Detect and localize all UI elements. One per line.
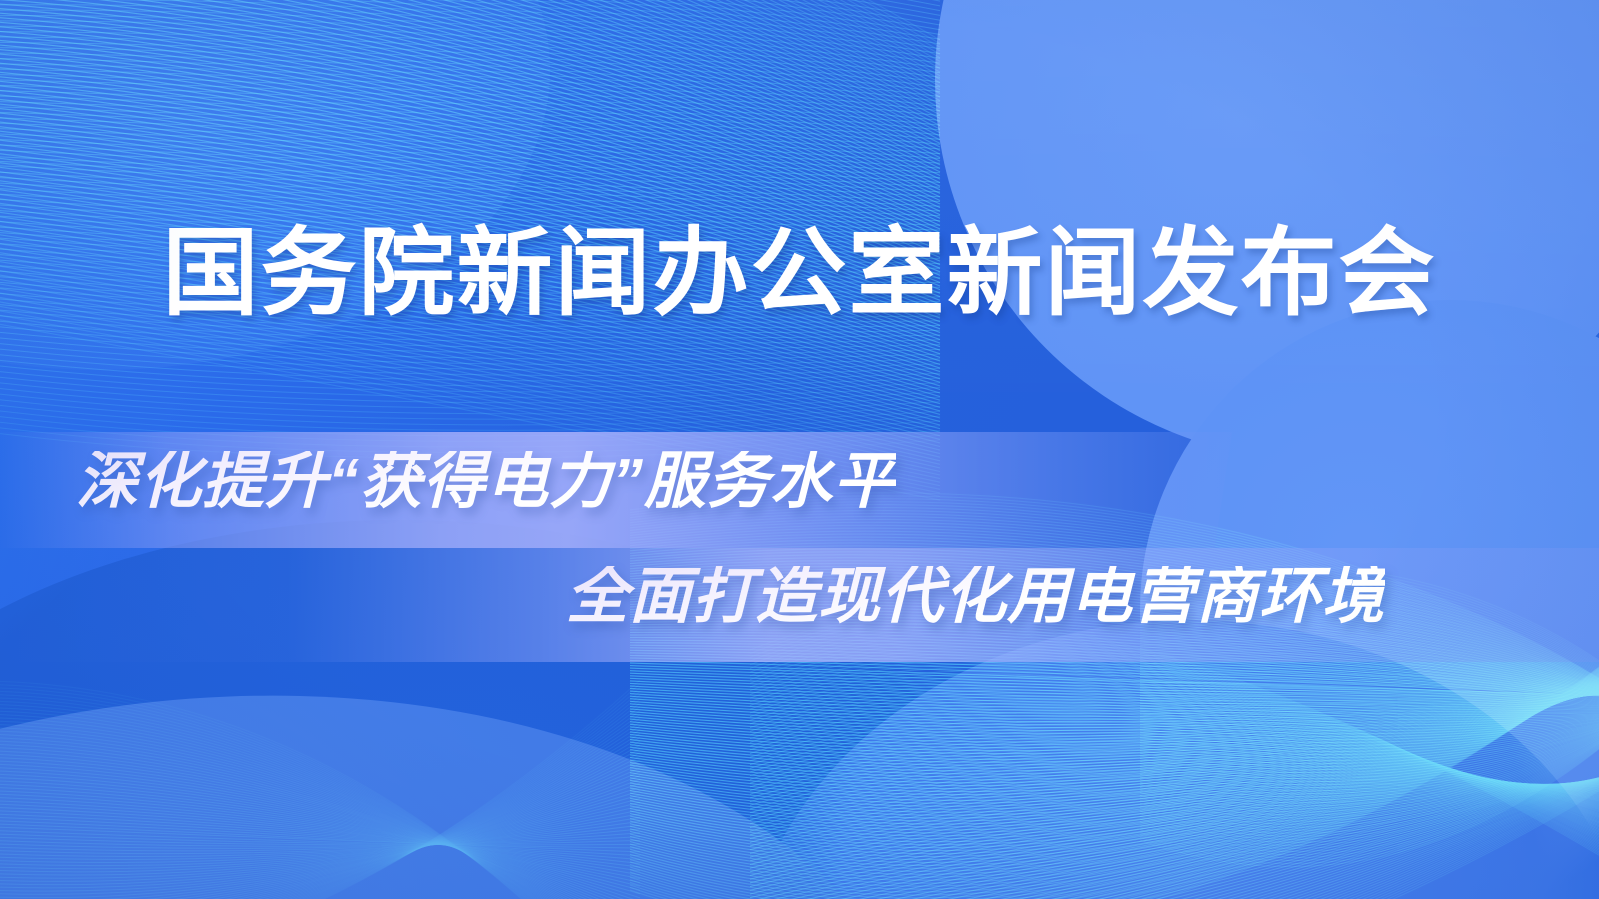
edge-vignette — [0, 0, 1599, 899]
press-conference-poster: 国务院新闻办公室新闻发布会 深化提升“获得电力”服务水平 全面打造现代化用电营商… — [0, 0, 1599, 899]
